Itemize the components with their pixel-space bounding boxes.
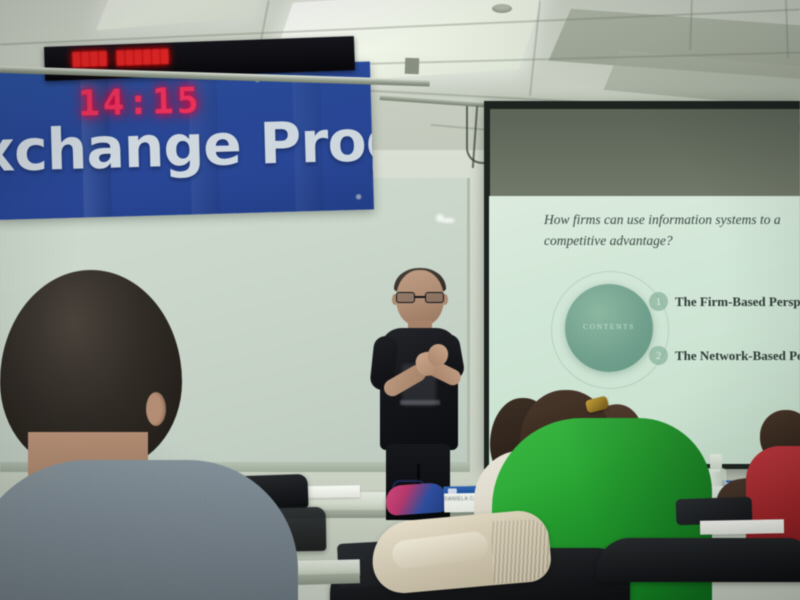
banner-title: xchange Program [0,113,374,181]
whiteboard-glint [441,218,455,223]
slide-question-line-2: competitive advantage? [544,231,800,252]
slide-question: How firms can use information systems to… [544,210,800,252]
banner-grommet [356,194,362,200]
led-clock-time: 14:15 [77,80,201,124]
slide-bullet-1: 1 The Firm-Based Perspe [649,292,800,311]
student-gray-shirt-texture [0,460,298,600]
slide-question-line-1: How firms can use information systems to… [544,210,800,231]
slide-contents-label: CONTENTS [565,322,653,331]
water-bottle-cap [710,454,722,469]
classroom-photo: xchange Program ████ ██████ 14:15 How fi… [0,0,800,600]
eyeglass-bridge [415,296,425,298]
pipe-bracket [405,58,420,74]
presenter-shirt-graphic [400,400,440,405]
cream-scarf-fringe [490,519,551,584]
eyeglasses-icon [396,292,444,303]
slide-bullet-2: 2 The Network-Based Pe [649,346,800,365]
pink-blue-bag [385,482,449,516]
slide-bullet-label: The Firm-Based Perspe [675,294,800,310]
slide-bullet-label: The Network-Based Pe [675,348,800,364]
slide-bullet-number: 2 [649,346,668,365]
chair-back [596,538,800,582]
led-ticker-text: ████ ██████ [72,50,170,68]
student-gray-shirt-ear [146,392,166,426]
name-card-logo [448,488,457,493]
slide-bullet-number: 1 [649,292,668,311]
slide-contents-circle: CONTENTS [565,284,653,372]
eyeglass-lens [396,292,415,303]
papers-on-desk [700,519,784,534]
smoke-detector-icon [492,4,512,13]
projection-screen-unlit-area [490,109,800,197]
eyeglass-lens [425,292,444,303]
